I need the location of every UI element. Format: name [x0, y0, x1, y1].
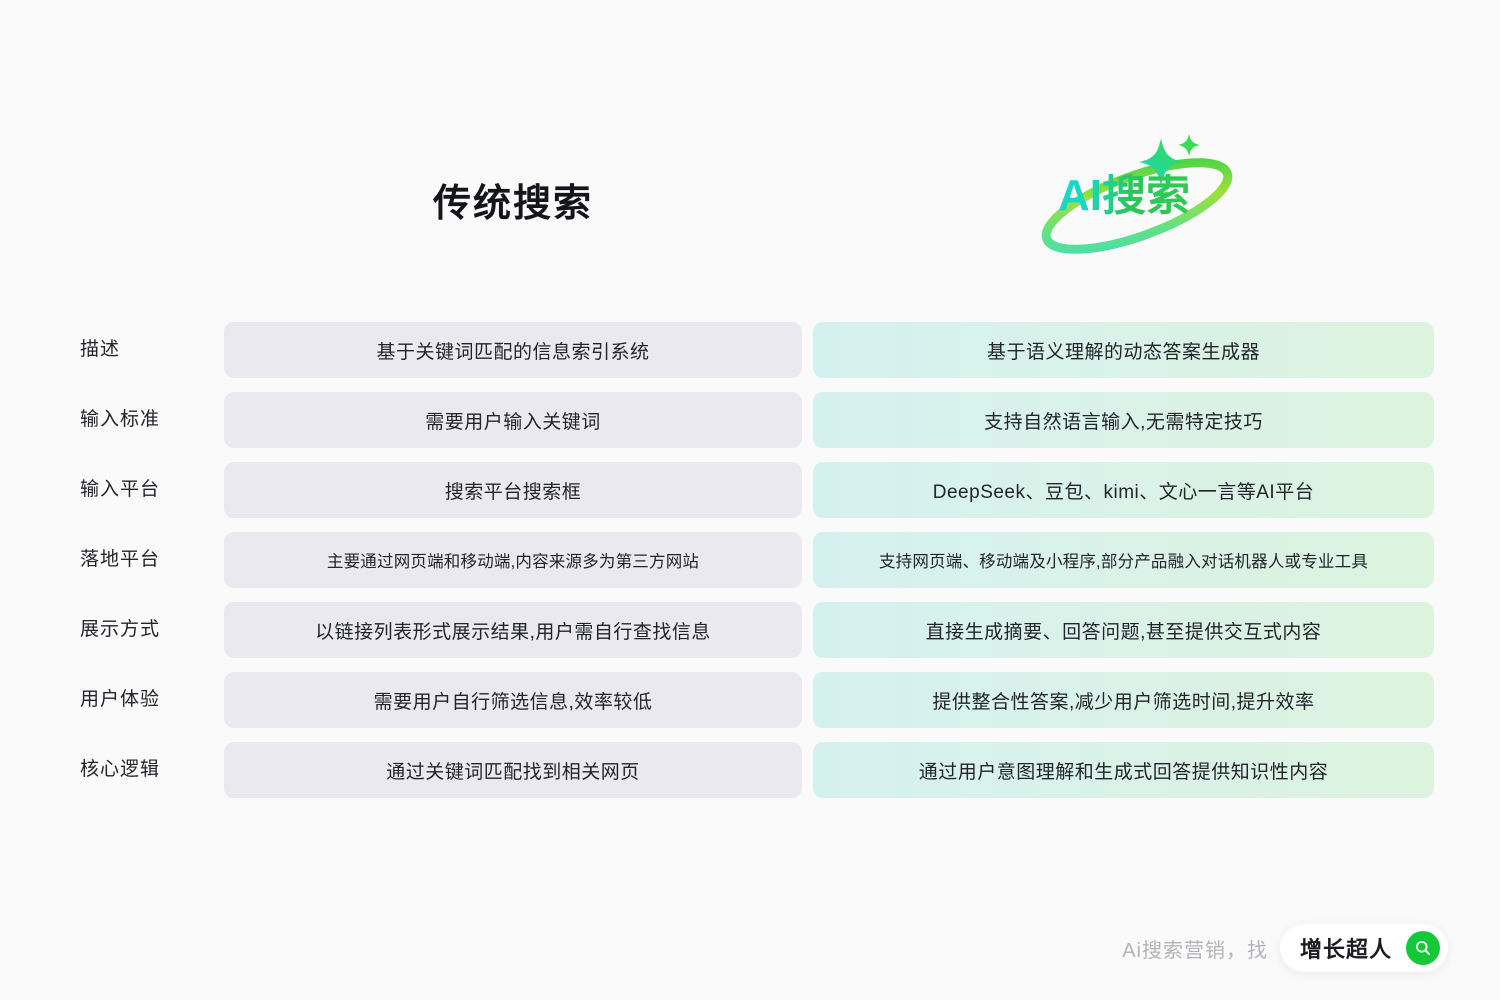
sparkle-star-small-icon — [1178, 134, 1200, 156]
search-icon — [1414, 939, 1432, 957]
page-title-traditional-search: 传统搜索 — [224, 172, 802, 227]
table-row: 用户体验 需要用户自行筛选信息,效率较低 提供整合性答案,减少用户筛选时间,提升… — [0, 672, 1500, 728]
cell-ai: 直接生成摘要、回答问题,甚至提供交互式内容 — [813, 602, 1434, 658]
search-button[interactable] — [1406, 931, 1440, 965]
cell-ai: DeepSeek、豆包、kimi、文心一言等AI平台 — [813, 462, 1434, 518]
table-row: 输入标准 需要用户输入关键词 支持自然语言输入,无需特定技巧 — [0, 392, 1500, 448]
ai-search-logo: AI搜索 — [1030, 128, 1245, 268]
ai-search-logo-text: AI搜索 — [1058, 174, 1190, 218]
row-label: 描述 — [80, 322, 120, 378]
brand-pill[interactable]: 增长超人 — [1280, 924, 1448, 972]
cell-ai: 支持网页端、移动端及小程序,部分产品融入对话机器人或专业工具 — [813, 532, 1434, 588]
footer-branding: Ai搜索营销，找 增长超人 — [1122, 924, 1448, 972]
cell-traditional: 主要通过网页端和移动端,内容来源多为第三方网站 — [224, 532, 802, 588]
row-label: 核心逻辑 — [80, 742, 160, 798]
cell-ai: 支持自然语言输入,无需特定技巧 — [813, 392, 1434, 448]
table-row: 输入平台 搜索平台搜索框 DeepSeek、豆包、kimi、文心一言等AI平台 — [0, 462, 1500, 518]
brand-name: 增长超人 — [1300, 932, 1392, 964]
row-label: 展示方式 — [80, 602, 160, 658]
table-row: 落地平台 主要通过网页端和移动端,内容来源多为第三方网站 支持网页端、移动端及小… — [0, 532, 1500, 588]
row-label: 输入平台 — [80, 462, 160, 518]
cell-traditional: 通过关键词匹配找到相关网页 — [224, 742, 802, 798]
cell-ai: 提供整合性答案,减少用户筛选时间,提升效率 — [813, 672, 1434, 728]
cell-traditional: 搜索平台搜索框 — [224, 462, 802, 518]
cell-ai: 通过用户意图理解和生成式回答提供知识性内容 — [813, 742, 1434, 798]
footer-tagline: Ai搜索营销，找 — [1122, 934, 1268, 963]
headers-area: 传统搜索 AI搜 — [0, 0, 1500, 300]
table-row: 核心逻辑 通过关键词匹配找到相关网页 通过用户意图理解和生成式回答提供知识性内容 — [0, 742, 1500, 798]
row-label: 用户体验 — [80, 672, 160, 728]
table-row: 展示方式 以链接列表形式展示结果,用户需自行查找信息 直接生成摘要、回答问题,甚… — [0, 602, 1500, 658]
comparison-table: 描述 基于关键词匹配的信息索引系统 基于语义理解的动态答案生成器 输入标准 需要… — [0, 322, 1500, 812]
cell-traditional: 需要用户自行筛选信息,效率较低 — [224, 672, 802, 728]
table-row: 描述 基于关键词匹配的信息索引系统 基于语义理解的动态答案生成器 — [0, 322, 1500, 378]
row-label: 输入标准 — [80, 392, 160, 448]
cell-ai: 基于语义理解的动态答案生成器 — [813, 322, 1434, 378]
row-label: 落地平台 — [80, 532, 160, 588]
cell-traditional: 需要用户输入关键词 — [224, 392, 802, 448]
cell-traditional: 基于关键词匹配的信息索引系统 — [224, 322, 802, 378]
cell-traditional: 以链接列表形式展示结果,用户需自行查找信息 — [224, 602, 802, 658]
